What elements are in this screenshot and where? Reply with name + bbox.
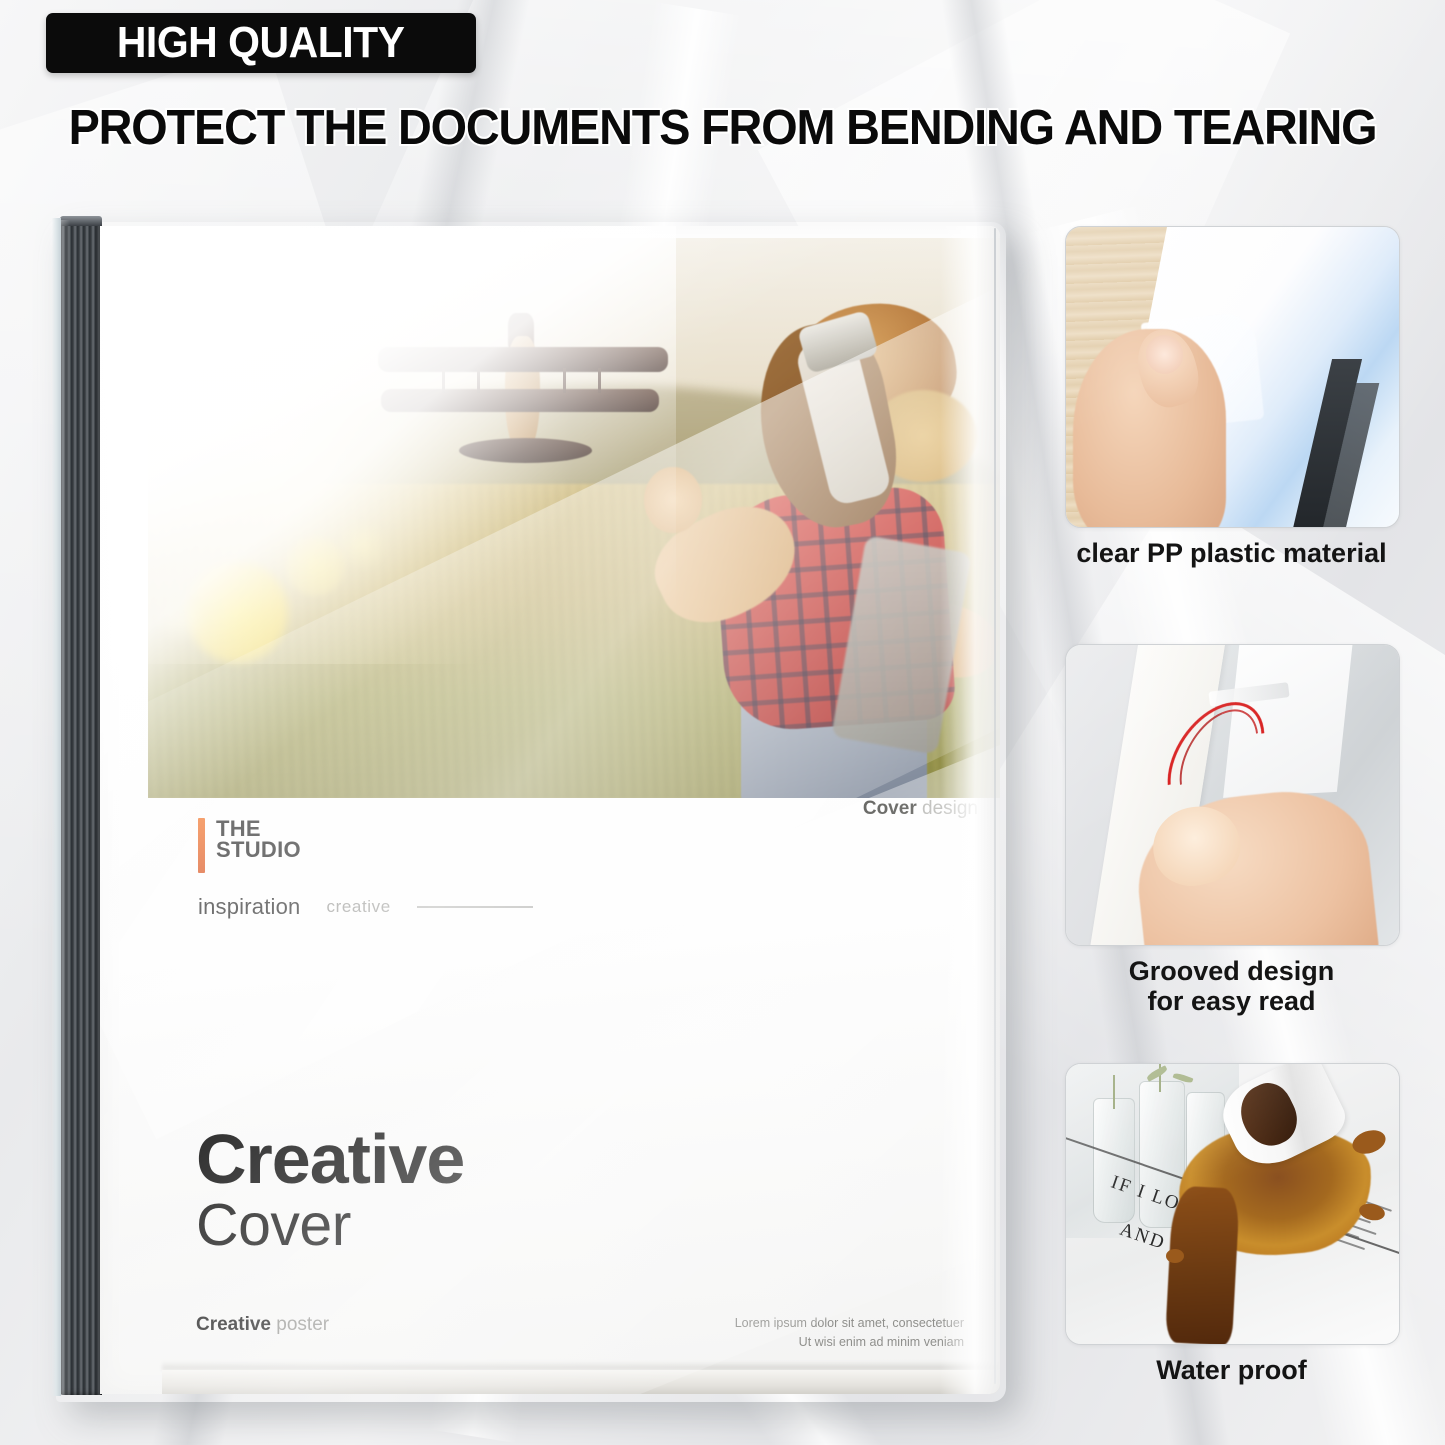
cover-photo [148,238,1000,798]
photo-film-sheen [148,238,1000,798]
feature-caption-clear-pp: clear PP plastic material [1065,538,1398,568]
feature-image-grooved-design [1065,644,1400,946]
studio-logo: THE STUDIO [198,818,301,873]
logo-line-2: STUDIO [216,839,301,860]
high-quality-badge: HIGH QUALITY [46,13,476,73]
feature-caption-water-proof: Water proof [1065,1355,1398,1385]
logo-line-1: THE [216,818,301,839]
infographic-canvas: HIGH QUALITY PROTECT THE DOCUMENTS FROM … [0,0,1445,1445]
tagline-row: inspiration creative [198,894,533,920]
feature-panel-clear-pp: clear PP plastic material [1065,226,1398,568]
product-cover: Cover design THE STUDIO inspiration crea… [38,214,1003,1404]
coffee-splatter-3 [1166,1249,1184,1263]
tagline-rule [417,906,533,908]
feature-caption-line-1: Grooved design [1065,956,1398,986]
cover-spine-gloss [60,220,70,1395]
cover-film-edge [52,218,61,1396]
cover-page: Cover design THE STUDIO inspiration crea… [100,226,1000,1394]
feature-caption-grooved-design: Grooved design for easy read [1065,956,1398,1016]
high-quality-badge-label: HIGH QUALITY [117,18,405,68]
footer-lorem-line-2: Ut wisi enim ad minim veniam [735,1333,964,1352]
cover-title: Creative Cover [196,1126,464,1255]
plant-stem-1 [1113,1075,1115,1109]
cover-footer: Creative poster Lorem ipsum dolor sit am… [196,1314,964,1353]
feature-caption-line-1: Water proof [1065,1355,1398,1385]
logo-accent-bar [198,818,205,873]
footer-lorem-line-1: Lorem ipsum dolor sit amet, consectetuer [735,1314,964,1333]
feature-caption-line-2: for easy read [1065,986,1398,1016]
logo-text: THE STUDIO [216,818,301,861]
page-stack-shadow [162,1361,1000,1370]
feature-image-water-proof: IF I LOSE AND [1065,1063,1400,1345]
footer-light: poster [276,1314,329,1335]
page-stack-edge [162,1370,1000,1394]
feature-image-clear-pp [1065,226,1400,528]
feature-panel-grooved-design: Grooved design for easy read [1065,644,1398,1016]
cover-design-caption: Cover design [863,798,978,820]
feature-caption-line-1: clear PP plastic material [1065,538,1398,568]
cover-title-light: Cover [196,1195,464,1255]
coffee-drip [1165,1186,1240,1345]
cover-title-bold: Creative [196,1126,464,1193]
cover-design-bold: Cover [863,798,917,819]
cover-footer-left: Creative poster [196,1314,329,1336]
cover-design-light: design [922,798,978,819]
tagline-primary: inspiration [198,894,300,920]
page-headline: PROTECT THE DOCUMENTS FROM BENDING AND T… [33,100,1413,156]
feature-panel-water-proof: IF I LOSE AND Water proof [1065,1063,1398,1385]
tagline-secondary: creative [326,897,390,917]
cover-footer-right: Lorem ipsum dolor sit amet, consectetuer… [735,1314,964,1353]
footer-bold: Creative [196,1314,271,1335]
